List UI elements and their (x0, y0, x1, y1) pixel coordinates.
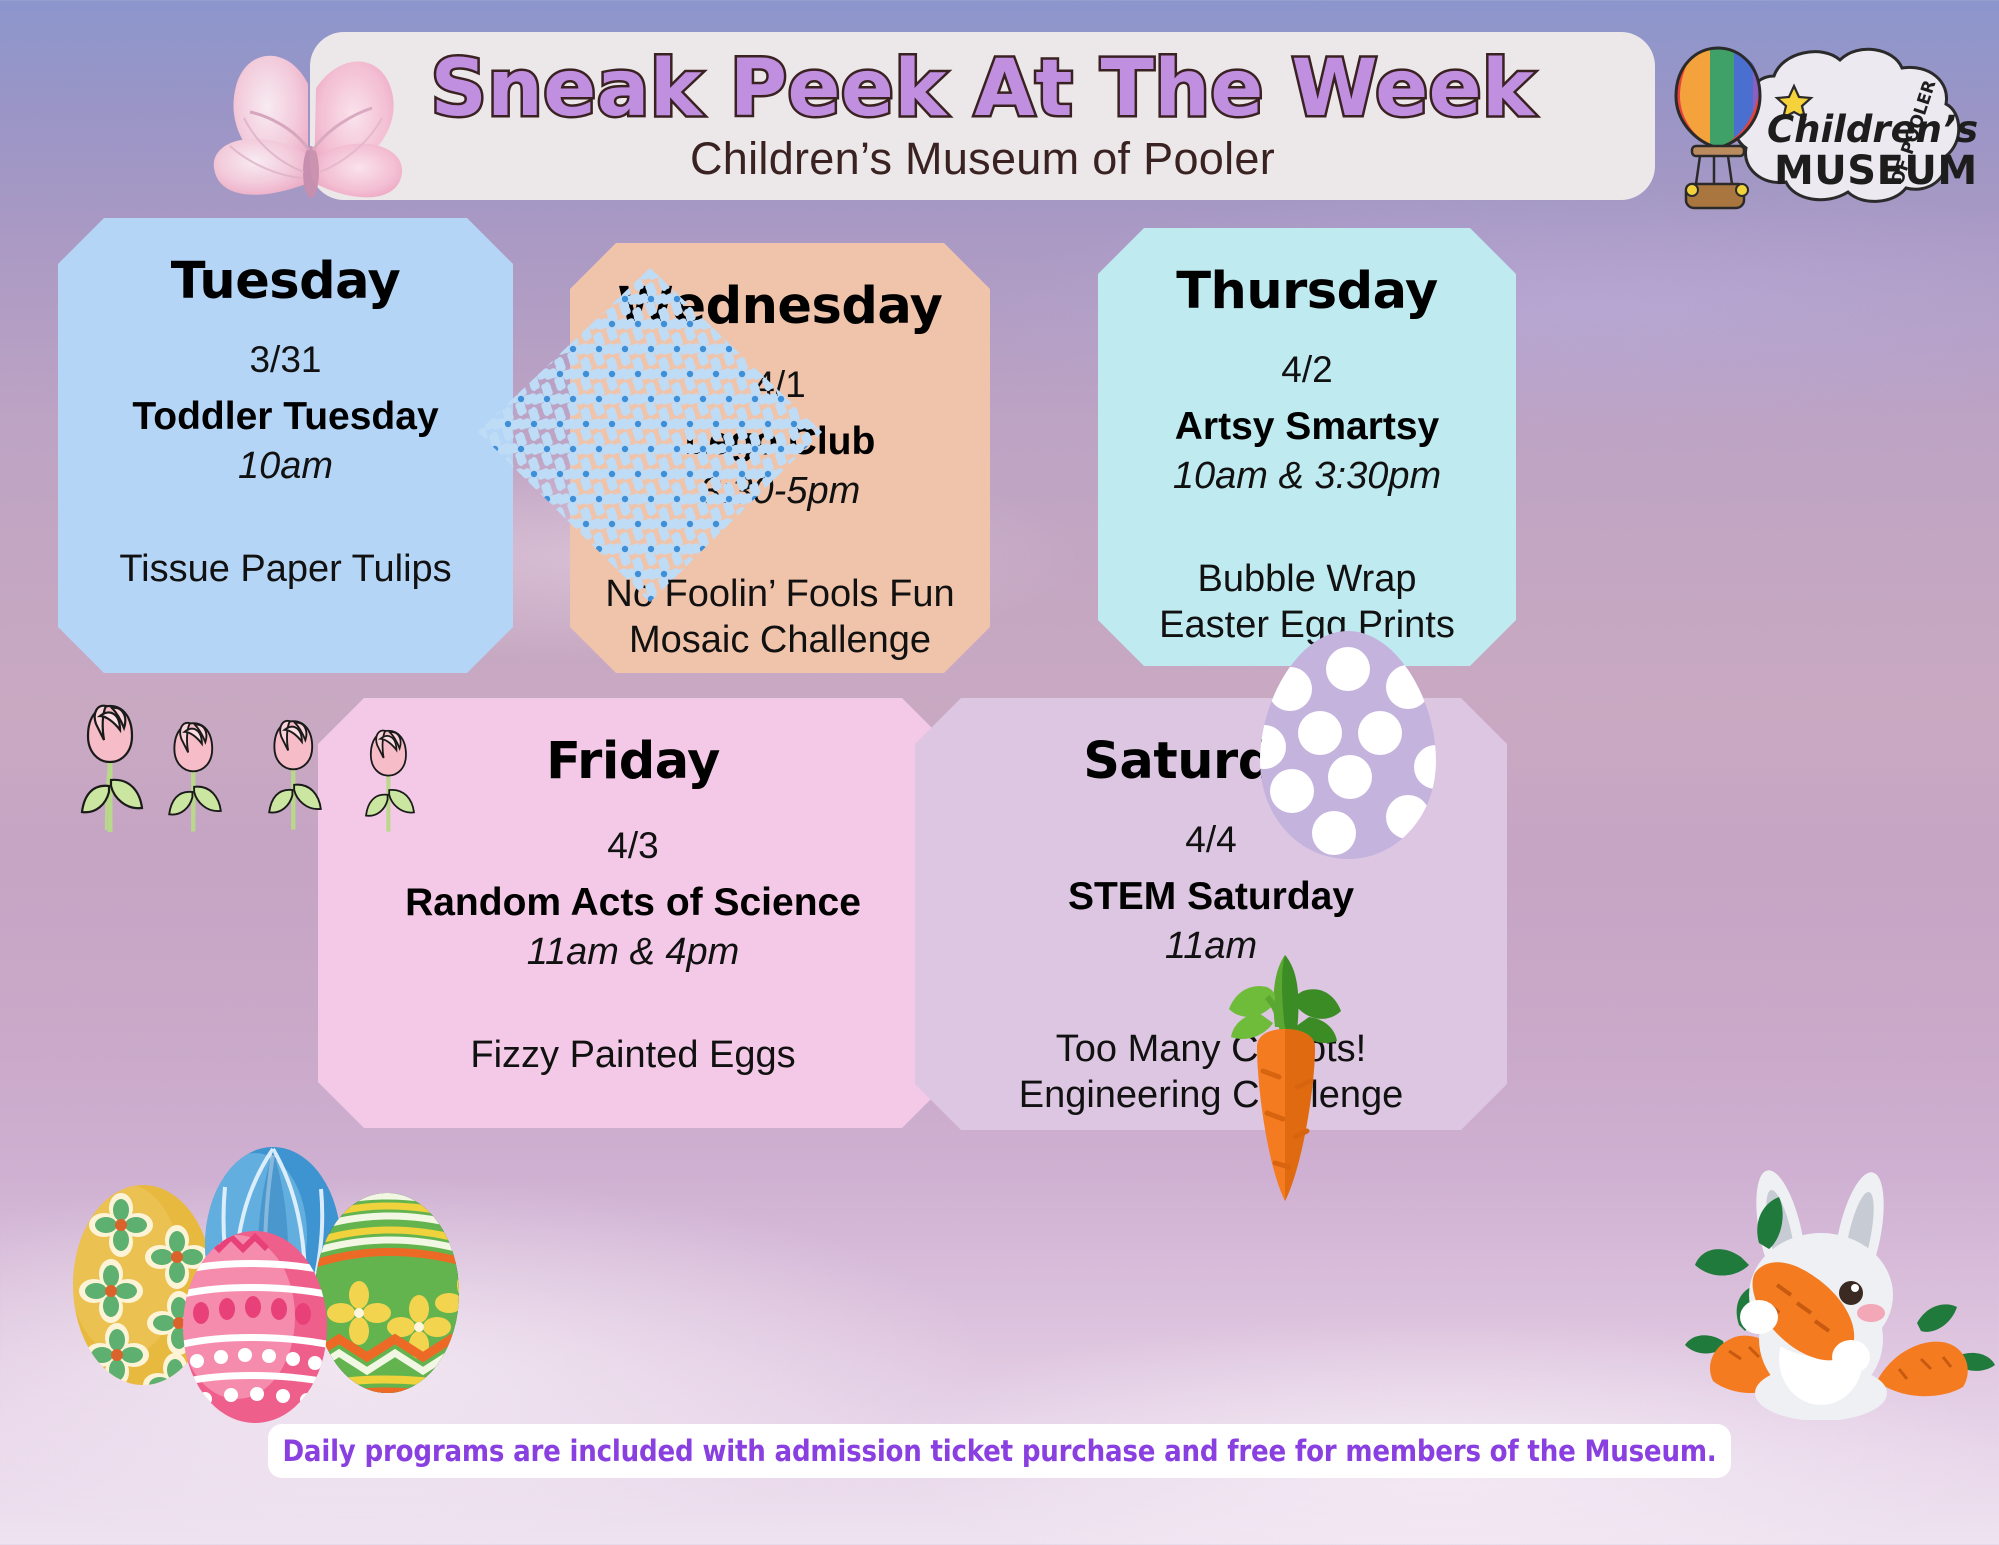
logo-line1: Children’s (1767, 108, 1978, 151)
footer-note: Daily programs are included with admissi… (0, 1432, 1999, 1470)
footer-text: Daily programs are included with admissi… (268, 1424, 1730, 1478)
logo-line2: MUSEUM (1774, 148, 1978, 194)
blue-flower-cluster-icon (470, 260, 830, 610)
day-activity-friday: Fizzy Painted Eggs (318, 1032, 948, 1078)
day-card-tuesday: Tuesday 3/31 Toddler Tuesday 10am Tissue… (58, 218, 513, 673)
butterfly-icon (196, 22, 426, 222)
day-activity-thursday-line1: Bubble Wrap (1098, 556, 1516, 602)
day-event-friday: Random Acts of Science (318, 881, 948, 925)
day-time-tuesday: 10am (58, 445, 513, 488)
day-name-thursday: Thursday (1098, 262, 1516, 321)
tulips-icon (62, 700, 492, 850)
day-activity-tuesday: Tissue Paper Tulips (58, 546, 513, 592)
day-name-tuesday: Tuesday (58, 252, 513, 311)
bunny-with-carrots-icon (1655, 1145, 1999, 1420)
page-subtitle: Children’s Museum of Pooler (690, 133, 1275, 185)
childrens-museum-of-pooler-logo: Children’s MUSEUM OF POOLER (1662, 38, 1982, 213)
day-time-thursday: 10am & 3:30pm (1098, 455, 1516, 498)
page-title: Sneak Peek At The Week (431, 51, 1535, 127)
day-event-thursday: Artsy Smartsy (1098, 405, 1516, 449)
day-activity-wednesday-line2: Mosaic Challenge (570, 617, 990, 663)
day-event-tuesday: Toddler Tuesday (58, 395, 513, 439)
day-card-thursday: Thursday 4/2 Artsy Smartsy 10am & 3:30pm… (1098, 228, 1516, 666)
carrot-icon (1205, 935, 1365, 1205)
carrot-body (1257, 1029, 1315, 1201)
polka-dot-easter-egg-icon (1248, 625, 1448, 865)
day-date-thursday: 4/2 (1098, 349, 1516, 391)
decorated-easter-eggs-icon (55, 1095, 475, 1425)
day-event-saturday: STEM Saturday (915, 875, 1507, 919)
hot-air-balloon-icon (1676, 48, 1760, 208)
header-banner: Sneak Peek At The Week Children’s Museum… (310, 32, 1655, 200)
carrot-icon (1877, 1304, 1995, 1396)
day-date-tuesday: 3/31 (58, 339, 513, 381)
day-time-friday: 11am & 4pm (318, 931, 948, 974)
